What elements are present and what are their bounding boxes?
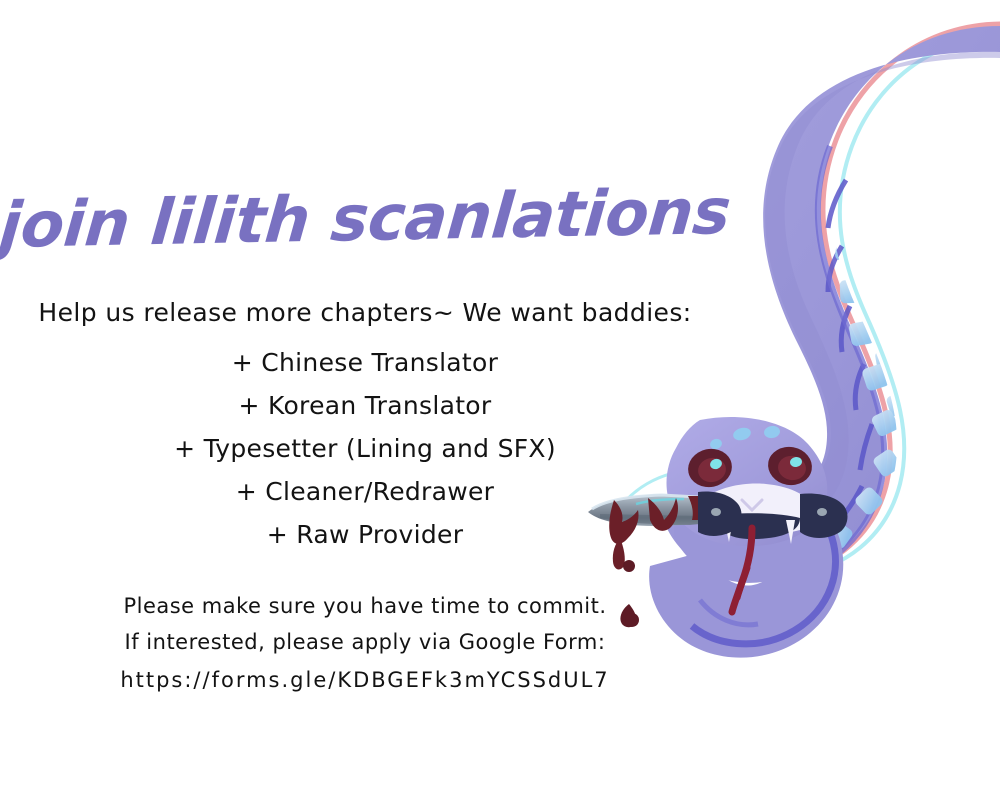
list-item: + Raw Provider [0, 513, 730, 556]
knife-rivet-right [817, 508, 827, 516]
snake-belly-bands [790, 180, 872, 568]
list-item: + Cleaner/Redrawer [0, 470, 730, 513]
open-roles-list: + Chinese Translator + Korean Translator… [0, 341, 730, 556]
snake-tongue [732, 528, 752, 612]
list-item: + Chinese Translator [0, 341, 730, 384]
list-item: + Typesetter (Lining and SFX) [0, 427, 730, 470]
snake-aberration-red [700, 24, 1000, 576]
intro-line: Help us release more chapters~ We want b… [0, 298, 730, 327]
apply-instruction: If interested, please apply via Google F… [0, 630, 730, 654]
google-form-url[interactable]: https://forms.gle/KDBGEFk3mYCSSdUL7 [0, 668, 730, 692]
snake-eye-right [765, 443, 815, 488]
recruitment-poster: join lilith scanlations Help us release … [0, 0, 1000, 785]
snake-fangs [724, 520, 795, 544]
list-item: + Korean Translator [0, 384, 730, 427]
poster-text-block: join lilith scanlations Help us release … [0, 0, 730, 785]
snake-scale-pattern [824, 81, 991, 550]
snake-belly-outline [772, 146, 884, 580]
page-title: join lilith scanlations [0, 179, 734, 259]
knife-handle-right [800, 494, 847, 539]
commitment-note: Please make sure you have time to commit… [0, 594, 730, 618]
